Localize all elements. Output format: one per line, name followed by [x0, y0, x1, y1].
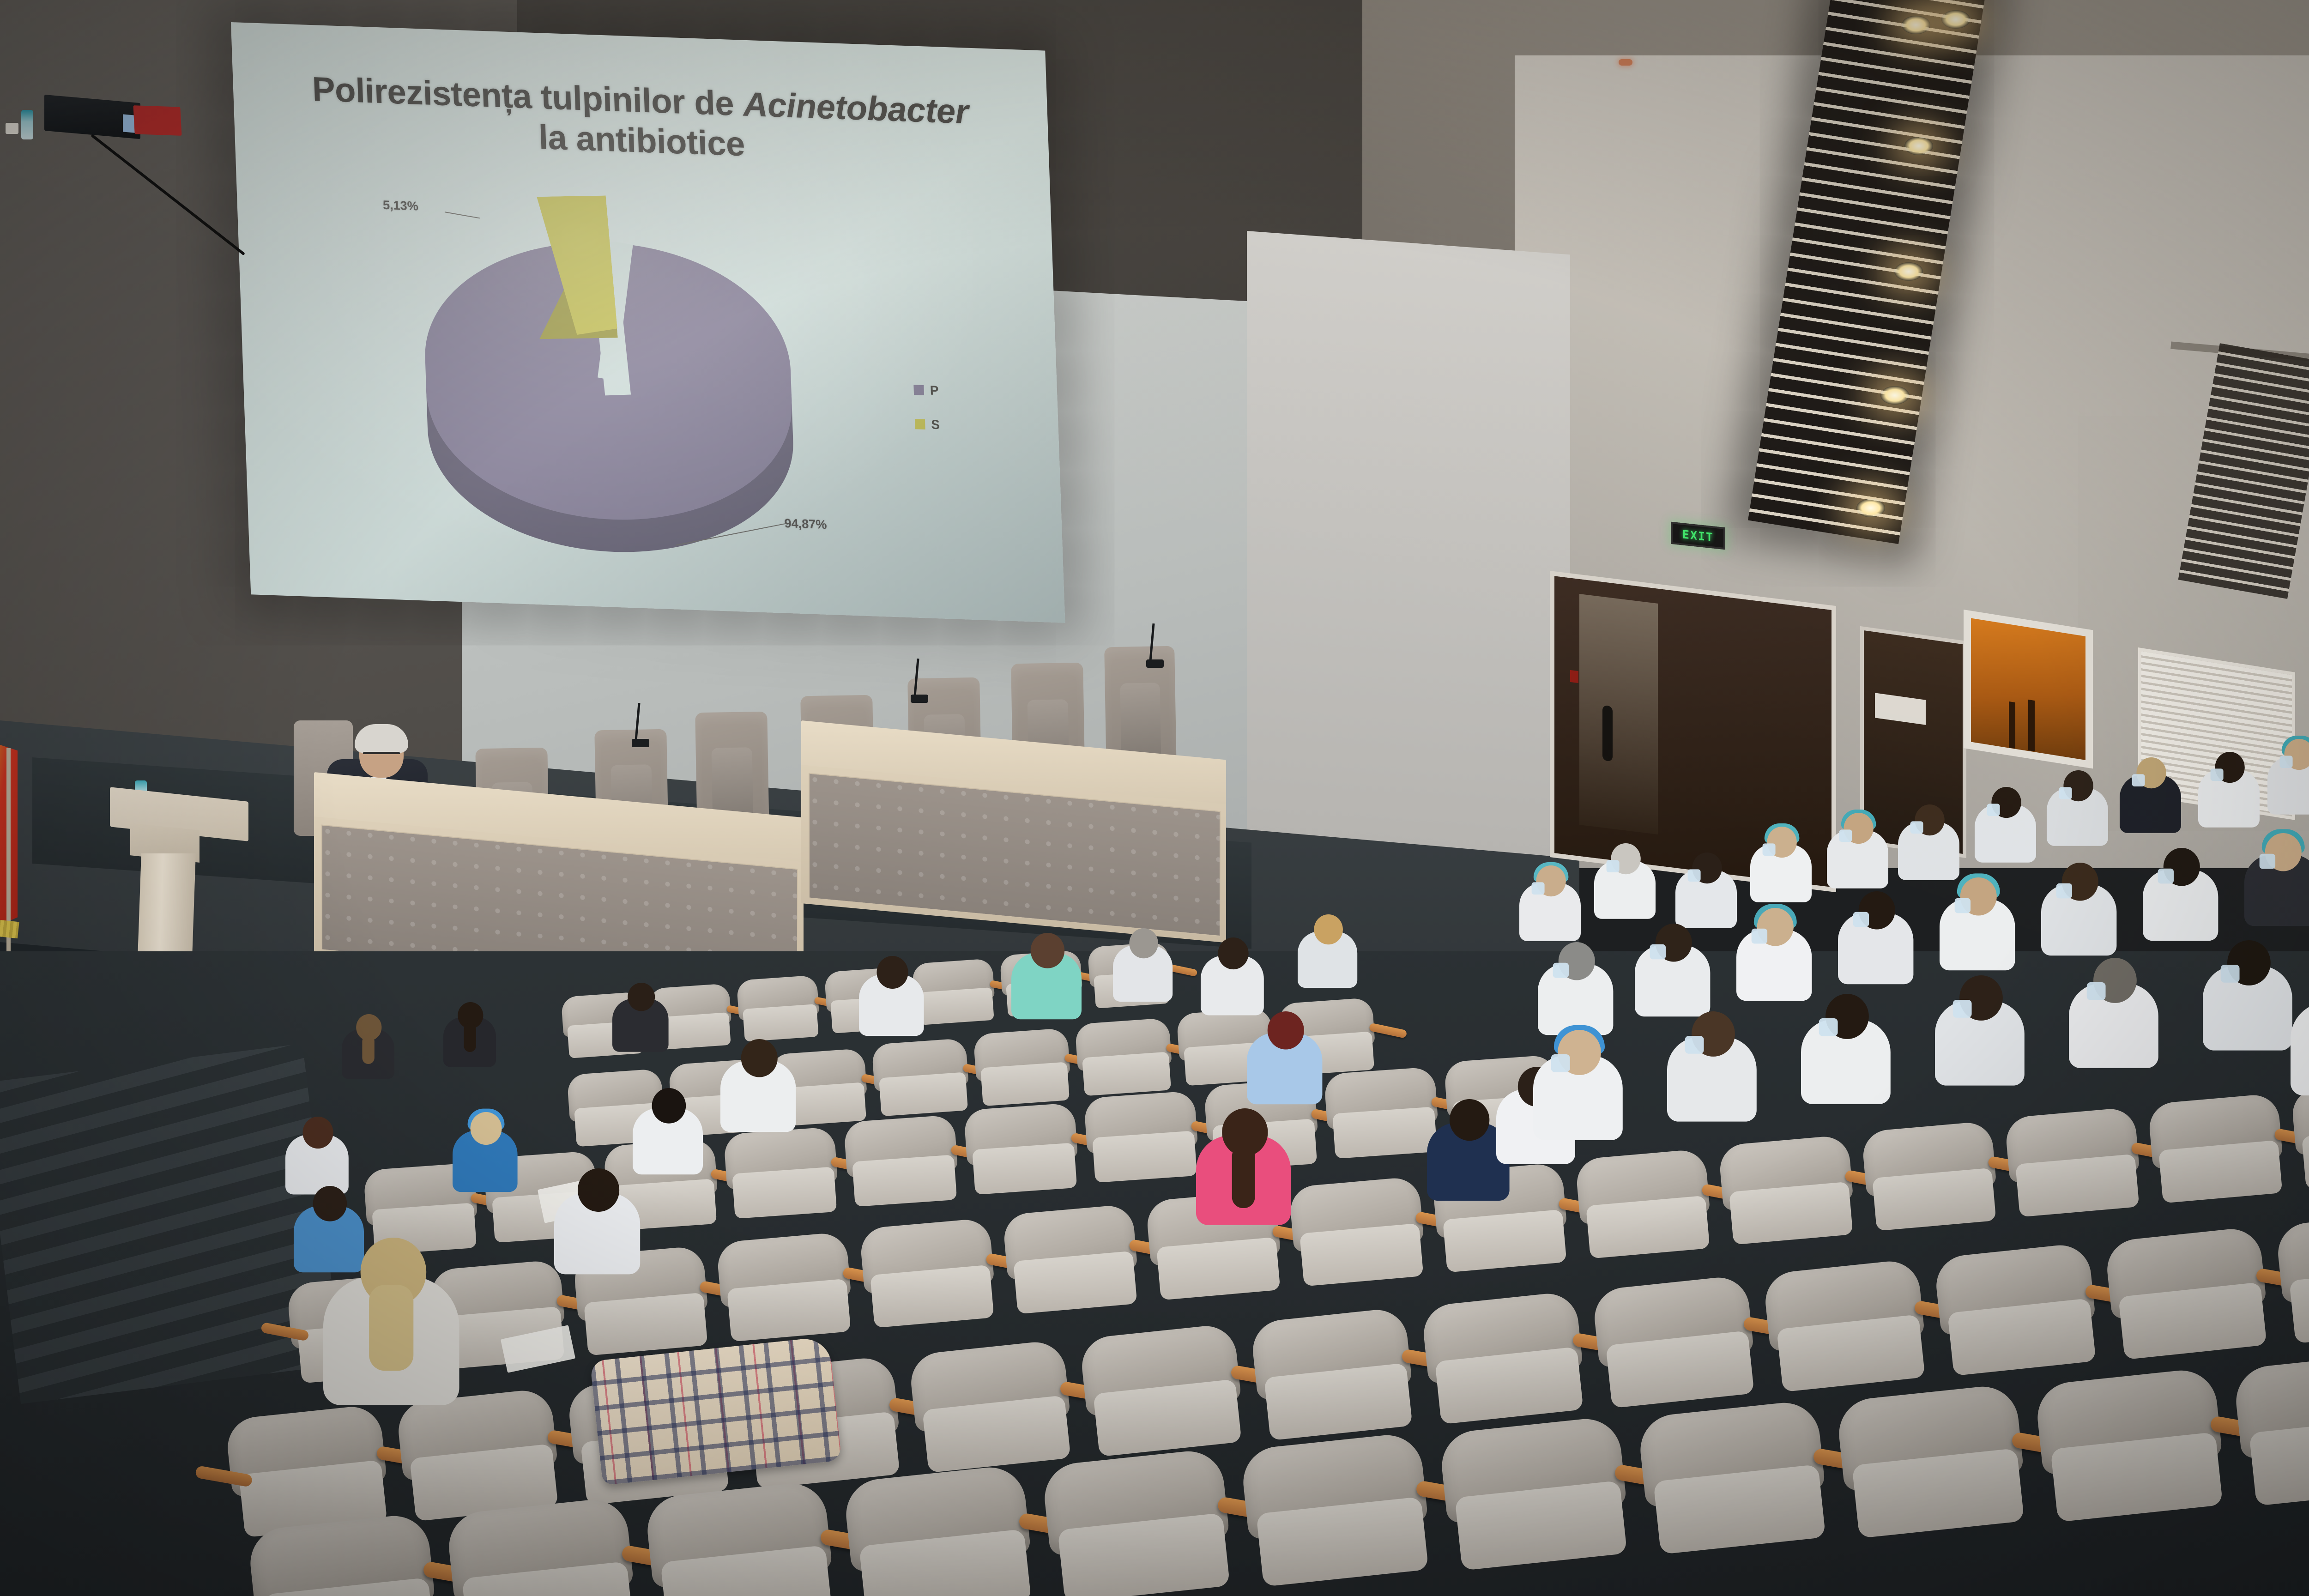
door-glass-reflection — [1579, 594, 1658, 834]
slide-title-italic: Acinetobacter — [742, 85, 969, 131]
booth-window-mullion — [2028, 700, 2035, 751]
door-handle[interactable] — [1602, 705, 1613, 762]
auditorium-seat[interactable] — [1288, 1175, 1441, 1295]
speaker-hair — [355, 724, 408, 753]
presidium-water-bottle — [21, 110, 33, 139]
auditorium-seat[interactable] — [1718, 1133, 1870, 1254]
legend-item-P: P — [913, 382, 939, 398]
auditorium-seat[interactable] — [1421, 1289, 1604, 1435]
auditorium-seat[interactable] — [1075, 1017, 1184, 1102]
booth-window-mullion — [2009, 701, 2015, 749]
pie-label-big: 94,87% — [784, 516, 827, 532]
auditorium-seat[interactable] — [843, 1462, 1056, 1596]
auditorium-seat[interactable] — [1934, 1240, 2117, 1387]
ceiling-downlight — [1894, 262, 1923, 281]
glasses-icon — [363, 752, 400, 762]
legend-label-S: S — [931, 417, 940, 432]
auditorium-seat[interactable] — [963, 1102, 1091, 1203]
auditorium-seat[interactable] — [1763, 1257, 1946, 1403]
ceiling-downlight — [1904, 137, 1933, 155]
auditorium-seat[interactable] — [736, 974, 829, 1047]
auditorium-seat[interactable] — [2104, 1224, 2288, 1371]
ceiling-downlight — [1941, 10, 1970, 29]
auditorium-seat[interactable] — [644, 1478, 857, 1596]
auditorium-seat[interactable] — [2004, 1106, 2157, 1226]
auditorium-seat[interactable] — [1083, 1090, 1211, 1191]
aisle-steps — [0, 1044, 342, 1404]
auditorium-seat[interactable] — [843, 1114, 971, 1215]
legend-item-S: S — [915, 417, 940, 432]
presidium-paper-cup — [6, 123, 18, 134]
pie-legend: P S — [913, 382, 941, 452]
auditorium-seat[interactable] — [1240, 1430, 1453, 1596]
auditorium-seat[interactable] — [1861, 1119, 2013, 1240]
slide-title-part2: la antibiotice — [538, 118, 745, 163]
auditorium-photo: Polirezistența tulpinilor de Acinetobact… — [0, 0, 2309, 1596]
legend-swatch-P — [913, 385, 924, 395]
pie-label-small: 5,13% — [382, 198, 418, 214]
auditorium-seat[interactable] — [908, 1337, 1092, 1484]
legend-label-P: P — [930, 383, 939, 399]
auditorium-seat[interactable] — [2034, 1365, 2247, 1535]
front-wall-right — [1247, 231, 1570, 864]
auditorium-seat[interactable] — [2147, 1092, 2300, 1212]
smoke-detector-icon — [1619, 59, 1632, 66]
auditorium-seat[interactable] — [912, 958, 1004, 1031]
auditorium-seat[interactable] — [1592, 1273, 1775, 1419]
projection-screen: Polirezistența tulpinilor de Acinetobact… — [231, 22, 1065, 623]
auditorium-seat[interactable] — [1836, 1381, 2049, 1551]
ceiling-downlight — [1880, 386, 1909, 405]
auditorium-seat[interactable] — [973, 1027, 1082, 1112]
auditorium-seat[interactable] — [1002, 1203, 1154, 1323]
auditorium-seat[interactable] — [723, 1126, 851, 1227]
auditorium-seat[interactable] — [859, 1216, 1011, 1337]
auditorium-seat[interactable] — [1439, 1414, 1651, 1584]
presidium-red-folder — [133, 105, 181, 136]
fire-alarm-icon — [1570, 670, 1578, 683]
auditorium-seat[interactable] — [1250, 1305, 1433, 1451]
pie-chart: 5,13% 94,87% P S — [306, 177, 1004, 588]
ceiling-downlight — [1856, 499, 1885, 517]
plaid-scarf-on-seat — [590, 1336, 841, 1486]
auditorium-seat[interactable] — [1637, 1397, 1850, 1567]
auditorium-seat[interactable] — [1041, 1446, 1254, 1596]
auditorium-seat[interactable] — [716, 1230, 868, 1351]
exit-sign-label: EXIT — [1682, 527, 1714, 544]
auditorium-seat[interactable] — [1575, 1147, 1727, 1268]
ceiling-downlight — [1902, 16, 1930, 34]
pie-leader-line-small — [445, 212, 480, 218]
legend-swatch-S — [915, 419, 925, 429]
